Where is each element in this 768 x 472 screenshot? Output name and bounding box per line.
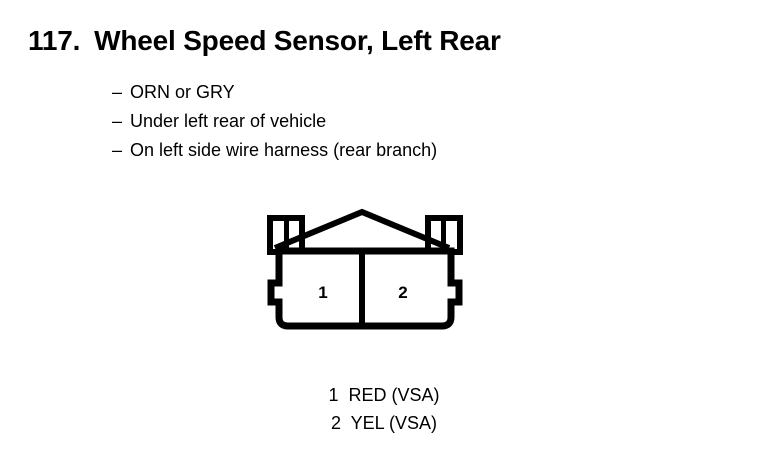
connector-cavity-1-label: 1	[318, 283, 327, 302]
page-title-number: 117.	[28, 27, 80, 55]
page-title: 117.Wheel Speed Sensor, Left Rear	[28, 27, 501, 55]
connector-diagram: 1 2	[255, 200, 475, 340]
list-item-label: Under left rear of vehicle	[130, 111, 326, 131]
dash-icon: –	[112, 78, 130, 107]
page-canvas: 117.Wheel Speed Sensor, Left Rear –ORN o…	[0, 0, 768, 472]
list-item-label: ORN or GRY	[130, 82, 235, 102]
pin-legend: 1 RED (VSA) 2 YEL (VSA)	[0, 381, 768, 437]
pin-legend-row: 1 RED (VSA)	[0, 381, 768, 409]
dash-icon: –	[112, 107, 130, 136]
description-list: –ORN or GRY –Under left rear of vehicle …	[112, 78, 437, 165]
pin-legend-row: 2 YEL (VSA)	[0, 409, 768, 437]
list-item-label: On left side wire harness (rear branch)	[130, 140, 437, 160]
connector-drawing: 1 2	[255, 200, 475, 340]
page-title-text: Wheel Speed Sensor, Left Rear	[94, 27, 501, 55]
dash-icon: –	[112, 136, 130, 165]
list-item: –Under left rear of vehicle	[112, 107, 437, 136]
list-item: –On left side wire harness (rear branch)	[112, 136, 437, 165]
connector-cavity-2-label: 2	[398, 283, 407, 302]
list-item: –ORN or GRY	[112, 78, 437, 107]
